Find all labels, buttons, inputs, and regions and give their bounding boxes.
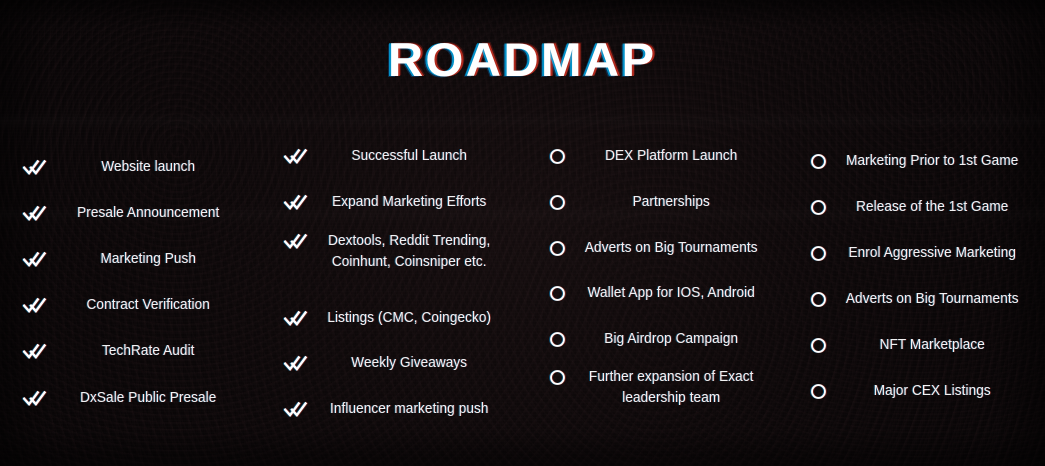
roadmap-item-label: Contract Verification xyxy=(59,295,254,316)
roadmap-item-label: Website launch xyxy=(59,157,254,178)
roadmap-item-label: DxSale Public Presale xyxy=(59,388,254,409)
double-check-icon xyxy=(279,353,313,372)
roadmap-item-label: Presale Announcement xyxy=(59,203,254,224)
roadmap-item: Adverts on Big Tournaments xyxy=(784,289,1045,310)
roadmap-item-label: Influencer marketing push xyxy=(321,399,516,420)
roadmap-item-label: Weekly Giveaways xyxy=(321,353,516,374)
roadmap-item-label: Marketing Push xyxy=(59,249,254,270)
roadmap-item-label: Expand Marketing Efforts xyxy=(321,192,516,213)
roadmap-column-phase-1: Website launchPresale AnnouncementMarket… xyxy=(0,126,261,426)
double-check-icon xyxy=(279,146,313,165)
roadmap-item-label: Wallet App for IOS, Android xyxy=(582,283,777,304)
page-title-container: ROADMAP xyxy=(0,36,1045,83)
roadmap-item-label: Dextools, Reddit Trending, Coinhunt, Coi… xyxy=(321,231,516,273)
circle-outline-icon xyxy=(541,146,575,165)
circle-outline-icon xyxy=(802,381,836,400)
double-check-icon xyxy=(18,157,52,176)
double-check-icon xyxy=(18,295,52,314)
roadmap-item: Influencer marketing push xyxy=(261,399,522,420)
roadmap-item-label: Listings (CMC, Coingecko) xyxy=(321,308,516,329)
roadmap-item: Enrol Aggressive Marketing xyxy=(784,243,1045,264)
roadmap-column-phase-2: Successful LaunchExpand Marketing Effort… xyxy=(261,126,522,426)
double-check-icon xyxy=(18,249,52,268)
roadmap-item-label: Enrol Aggressive Marketing xyxy=(843,243,1038,264)
roadmap-item-label: DEX Platform Launch xyxy=(582,146,777,167)
roadmap-item: Website launch xyxy=(0,157,261,178)
roadmap-item: Big Airdrop Campaign xyxy=(523,329,784,350)
circle-outline-icon xyxy=(541,367,575,386)
roadmap-item-label: Further expansion of Exact leadership te… xyxy=(582,367,777,409)
double-check-icon xyxy=(279,192,313,211)
roadmap-item: Contract Verification xyxy=(0,295,261,316)
roadmap-column-phase-3: DEX Platform LaunchPartnershipsAdverts o… xyxy=(523,126,784,426)
circle-outline-icon xyxy=(802,289,836,308)
page-title: ROADMAP xyxy=(388,36,657,83)
roadmap-item: Listings (CMC, Coingecko) xyxy=(261,308,522,329)
roadmap-column-phase-4: Marketing Prior to 1st GameRelease of th… xyxy=(784,126,1045,426)
roadmap-item-label: Major CEX Listings xyxy=(843,381,1038,402)
roadmap-item: DEX Platform Launch xyxy=(523,146,784,167)
roadmap-item-label: Big Airdrop Campaign xyxy=(582,329,777,350)
circle-outline-icon xyxy=(541,283,575,302)
roadmap-item: Wallet App for IOS, Android xyxy=(523,283,784,304)
roadmap-item: Further expansion of Exact leadership te… xyxy=(523,367,784,409)
roadmap-item: Dextools, Reddit Trending, Coinhunt, Coi… xyxy=(261,231,522,273)
circle-outline-icon xyxy=(802,197,836,216)
roadmap-item: Partnerships xyxy=(523,192,784,213)
roadmap-item: TechRate Audit xyxy=(0,341,261,362)
circle-outline-icon xyxy=(802,243,836,262)
roadmap-item: Marketing Push xyxy=(0,249,261,270)
circle-outline-icon xyxy=(802,335,836,354)
roadmap-item: Presale Announcement xyxy=(0,203,261,224)
roadmap-item: NFT Marketplace xyxy=(784,335,1045,356)
double-check-icon xyxy=(279,308,313,327)
roadmap-item-label: Partnerships xyxy=(582,192,777,213)
roadmap-item-label: Successful Launch xyxy=(321,146,516,167)
circle-outline-icon xyxy=(541,238,575,257)
roadmap-item: Marketing Prior to 1st Game xyxy=(784,151,1045,172)
roadmap-item: Release of the 1st Game xyxy=(784,197,1045,218)
roadmap-item: Successful Launch xyxy=(261,146,522,167)
roadmap-item: Expand Marketing Efforts xyxy=(261,192,522,213)
roadmap-item: Adverts on Big Tournaments xyxy=(523,238,784,259)
double-check-icon xyxy=(18,341,52,360)
roadmap-item: Weekly Giveaways xyxy=(261,353,522,374)
circle-outline-icon xyxy=(541,192,575,211)
roadmap-item-label: Marketing Prior to 1st Game xyxy=(843,151,1038,172)
roadmap-item-label: Release of the 1st Game xyxy=(843,197,1038,218)
roadmap-item-label: NFT Marketplace xyxy=(843,335,1038,356)
double-check-icon xyxy=(18,203,52,222)
roadmap-section: ROADMAP Website launchPresale Announceme… xyxy=(0,0,1045,466)
circle-outline-icon xyxy=(541,329,575,348)
roadmap-item-label: Adverts on Big Tournaments xyxy=(582,238,777,259)
roadmap-item: Major CEX Listings xyxy=(784,381,1045,402)
roadmap-item: DxSale Public Presale xyxy=(0,388,261,409)
double-check-icon xyxy=(18,388,52,407)
circle-outline-icon xyxy=(802,151,836,170)
double-check-icon xyxy=(279,399,313,418)
roadmap-columns: Website launchPresale AnnouncementMarket… xyxy=(0,126,1045,426)
roadmap-item-label: TechRate Audit xyxy=(59,341,254,362)
roadmap-item-label: Adverts on Big Tournaments xyxy=(843,289,1038,310)
double-check-icon xyxy=(279,231,313,250)
